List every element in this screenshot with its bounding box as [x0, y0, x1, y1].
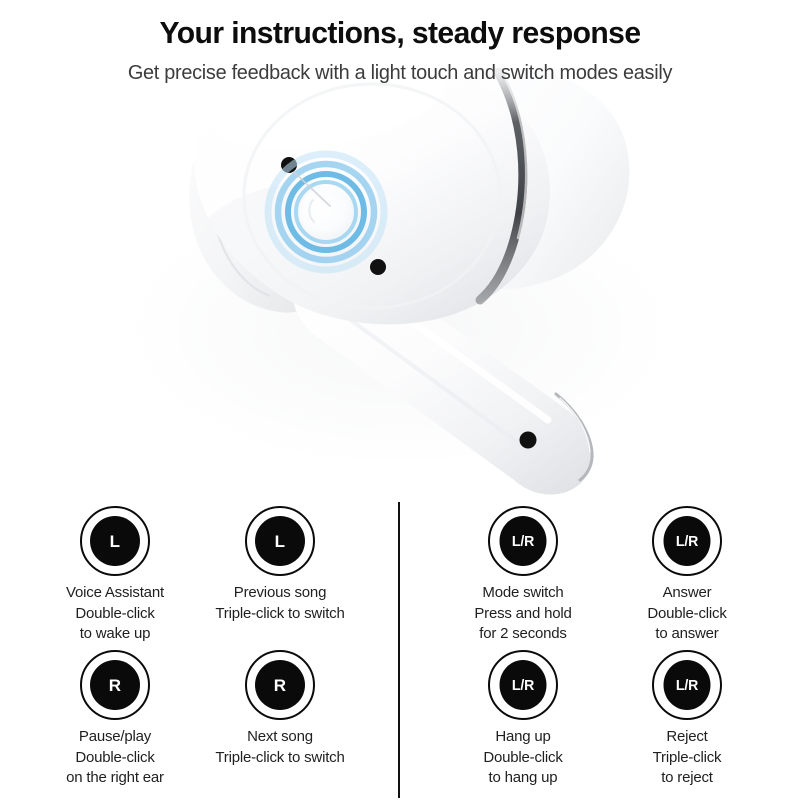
badge-label: R [255, 660, 305, 710]
control-legend-grid: L Voice Assistant Double-click to wake u… [0, 500, 800, 800]
section-divider [398, 502, 400, 798]
control-line: to wake up [20, 624, 210, 645]
control-description: Next song Triple-click to switch [185, 727, 375, 768]
control-line: Hang up [428, 727, 618, 748]
control-line: Triple-click [592, 748, 782, 769]
control-line: Answer [592, 583, 782, 604]
earbud-side-badge-icon: L [245, 506, 315, 576]
control-item-pause-play[interactable]: R Pause/play Double-click on the right e… [20, 650, 210, 789]
badge-label: L/R [500, 516, 547, 566]
control-item-next-song[interactable]: R Next song Triple-click to switch [185, 650, 375, 768]
control-item-voice-assistant[interactable]: L Voice Assistant Double-click to wake u… [20, 506, 210, 645]
control-line: Next song [185, 727, 375, 748]
control-description: Previous song Triple-click to switch [185, 583, 375, 624]
control-line: for 2 seconds [428, 624, 618, 645]
mic-hole-lower [370, 259, 386, 275]
badge-label: L/R [500, 660, 547, 710]
control-description: Hang up Double-click to hang up [428, 727, 618, 789]
earbud-side-badge-icon: L/R [652, 506, 722, 576]
control-line: Double-click [592, 604, 782, 625]
badge-label: L [90, 516, 140, 566]
mic-hole-stem [520, 432, 537, 449]
earbud-side-badge-icon: L/R [488, 506, 558, 576]
control-line: Triple-click to switch [185, 748, 375, 769]
control-line: on the right ear [20, 768, 210, 789]
control-line: Reject [592, 727, 782, 748]
control-description: Reject Triple-click to reject [592, 727, 782, 789]
earbud-side-badge-icon: L [80, 506, 150, 576]
control-item-reject[interactable]: L/R Reject Triple-click to reject [592, 650, 782, 789]
badge-label: L/R [664, 660, 711, 710]
control-description: Mode switch Press and hold for 2 seconds [428, 583, 618, 645]
earbud-illustration [0, 0, 800, 500]
control-line: to reject [592, 768, 782, 789]
product-image-area [0, 0, 800, 500]
earbud-side-badge-icon: L/R [488, 650, 558, 720]
control-line: to answer [592, 624, 782, 645]
earbud-side-badge-icon: R [80, 650, 150, 720]
earbud-side-badge-icon: R [245, 650, 315, 720]
control-line: Double-click [20, 604, 210, 625]
control-item-answer[interactable]: L/R Answer Double-click to answer [592, 506, 782, 645]
badge-label: L/R [664, 516, 711, 566]
control-item-mode-switch[interactable]: L/R Mode switch Press and hold for 2 sec… [428, 506, 618, 645]
earbud-side-badge-icon: L/R [652, 650, 722, 720]
product-feature-page: Your instructions, steady response Get p… [0, 0, 800, 800]
control-line: Press and hold [428, 604, 618, 625]
control-line: Previous song [185, 583, 375, 604]
control-line: Pause/play [20, 727, 210, 748]
control-line: to hang up [428, 768, 618, 789]
touch-plate [300, 186, 352, 238]
control-description: Voice Assistant Double-click to wake up [20, 583, 210, 645]
badge-label: R [90, 660, 140, 710]
control-item-hang-up[interactable]: L/R Hang up Double-click to hang up [428, 650, 618, 789]
control-line: Triple-click to switch [185, 604, 375, 625]
control-item-previous-song[interactable]: L Previous song Triple-click to switch [185, 506, 375, 624]
control-description: Pause/play Double-click on the right ear [20, 727, 210, 789]
control-line: Double-click [20, 748, 210, 769]
control-line: Double-click [428, 748, 618, 769]
control-line: Voice Assistant [20, 583, 210, 604]
control-line: Mode switch [428, 583, 618, 604]
touch-ripple-indicator [268, 154, 384, 270]
badge-label: L [255, 516, 305, 566]
control-description: Answer Double-click to answer [592, 583, 782, 645]
